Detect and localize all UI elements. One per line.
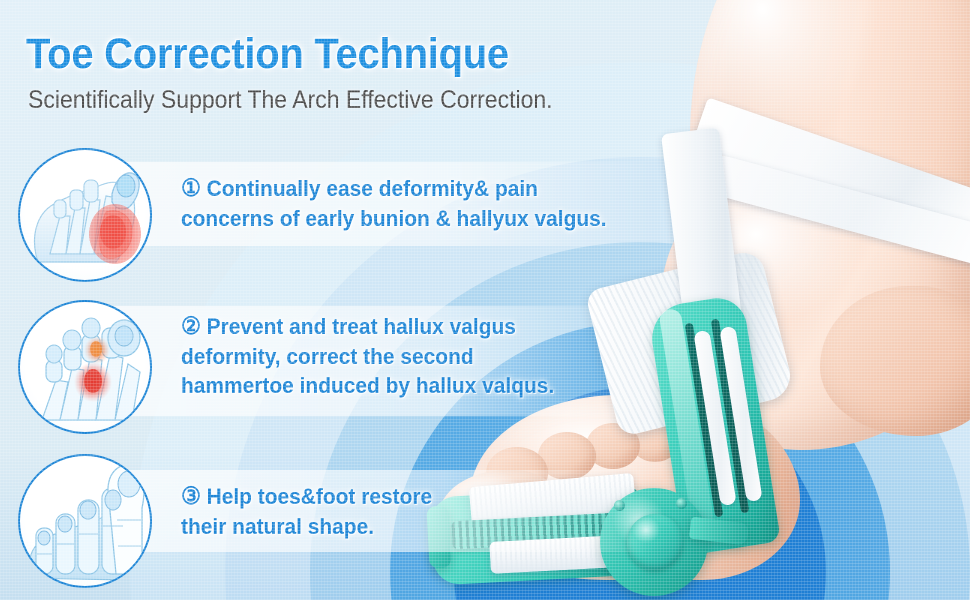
aligned-healthy-toes-icon	[18, 454, 152, 588]
feature-2-line-3: hammertoe induced by hallux valqus.	[181, 373, 554, 398]
feature-2-text: ②Prevent and treat hallux valgus deformi…	[181, 312, 554, 400]
feature-1-line-2: concerns of early bunion & hallyux valgu…	[181, 206, 607, 231]
feature-1-number: ①	[181, 175, 201, 202]
feature-3-line-1: Help toes&foot restore	[207, 484, 433, 509]
bunion-inflammation-foot-icon	[18, 148, 152, 282]
infographic-canvas: Toe Correction Technique Scientifically …	[0, 0, 970, 600]
feature-2-line-1: Prevent and treat hallux valgus	[207, 314, 516, 339]
feature-1-text: ①Continually ease deformity& pain concer…	[181, 174, 607, 234]
feature-2-line-2: deformity, correct the second	[181, 344, 474, 369]
hammertoe-skeleton-foot-icon	[18, 300, 152, 434]
page-subtitle: Scientifically Support The Arch Effectiv…	[28, 86, 553, 115]
feature-3-line-2: their natural shape.	[181, 514, 374, 539]
feature-3-number: ③	[181, 483, 201, 510]
feature-1-line-1: Continually ease deformity& pain	[207, 176, 538, 201]
feature-2-number: ②	[181, 313, 201, 340]
device-screw-right	[676, 498, 687, 509]
page-title: Toe Correction Technique	[26, 30, 509, 79]
feature-3-text: ③Help toes&foot restore their natural sh…	[181, 482, 432, 542]
